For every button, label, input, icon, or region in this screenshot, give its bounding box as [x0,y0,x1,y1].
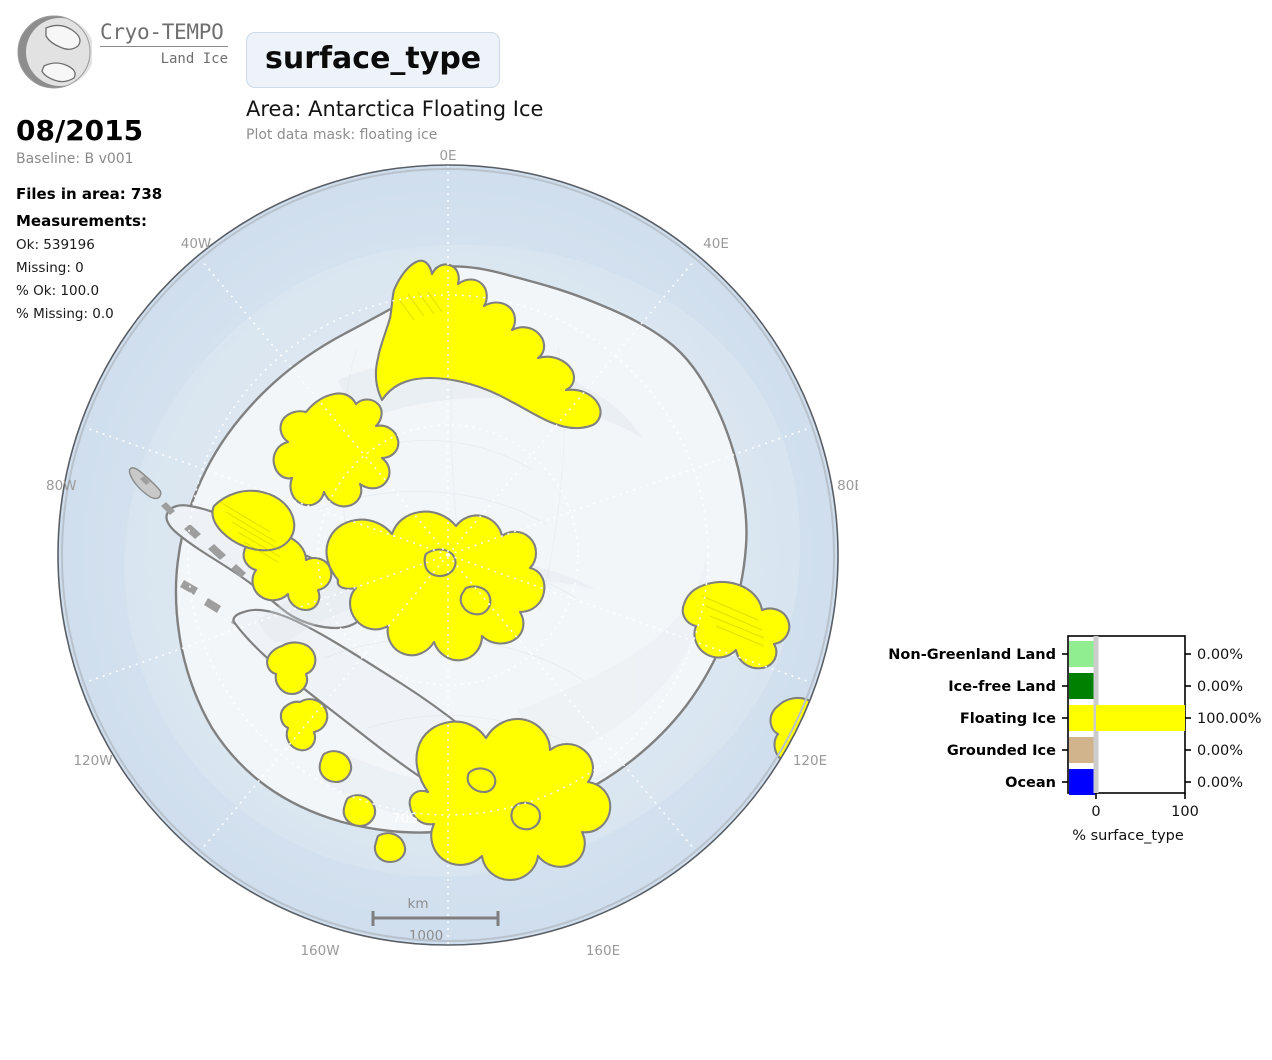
chart-category-labels: Non-Greenland Land Ice-free Land Floatin… [888,647,1056,791]
xtick-label-0: 0 [1091,804,1100,820]
plot-data-mask-label: Plot data mask: floating ice [246,126,437,144]
variable-title-badge: surface_type [246,32,500,88]
xtick-label-100: 100 [1171,804,1199,820]
lon-label-120w: 120W [73,753,112,769]
floating-ice-pine-island [320,751,351,782]
lon-label-40w: 40W [181,236,212,252]
category-label-4: Ocean [1005,775,1056,791]
date-label: 08/2015 [16,114,231,148]
category-label-1: Ice-free Land [948,679,1056,695]
value-label-2: 100.00% [1197,711,1262,727]
svg-text:km: km [408,896,429,912]
variable-title: surface_type [265,41,481,76]
category-label-0: Non-Greenland Land [888,647,1056,663]
globe-crescent-icon [16,14,92,90]
svg-text:70S: 70S [392,811,418,827]
area-label: Area: Antarctica Floating Ice [246,96,543,122]
floating-ice-totten [780,825,815,858]
logo-title: Cryo-TEMPO [100,20,230,44]
value-label-3: 0.00% [1197,743,1243,759]
swatch-ice-free-land [1069,673,1095,699]
chart-bars [1096,705,1185,731]
chart-left-ticks [1062,654,1068,782]
logo-wordmark: Cryo-TEMPO Land Ice [100,20,230,67]
surface-type-bar-chart: Non-Greenland Land Ice-free Land Floatin… [880,600,1272,860]
lon-label-40e: 40E [703,236,729,252]
swatch-non-greenland-land [1069,641,1095,667]
antarctica-map: 70S km 1000 0E 40E 80E 120E [38,150,858,970]
lon-label-80e: 80E [837,478,858,494]
lon-label-120e: 120E [793,753,827,769]
floating-ice-drygalski [630,953,660,970]
category-label-3: Grounded Ice [947,743,1056,759]
swatch-floating-ice [1069,705,1095,731]
floating-ice-west-denman [788,765,821,800]
lon-label-0e: 0E [439,150,456,164]
chart-value-labels: 0.00% 0.00% 100.00% 0.00% 0.00% [1197,647,1262,791]
swatch-ocean [1069,769,1095,795]
value-label-4: 0.00% [1197,775,1243,791]
latitude-label-70s: 70S [390,808,424,827]
category-label-2: Floating Ice [960,711,1056,727]
lon-label-160w: 160W [300,943,339,959]
floating-ice-small-b [534,959,564,970]
chart-color-swatches [1069,641,1095,795]
lon-label-80w: 80W [46,478,77,494]
chart-right-ticks [1185,654,1191,782]
value-label-0: 0.00% [1197,647,1243,663]
lon-label-160e: 160E [586,943,620,959]
chart-xlabel: % surface_type [1072,828,1184,844]
page-root: Cryo-TEMPO Land Ice 08/2015 Baseline: B … [0,0,1272,1060]
bar-floating-ice [1096,705,1185,731]
value-label-1: 0.00% [1197,679,1243,695]
chart-x-ticks [1096,793,1185,799]
floating-ice-getz [375,833,405,862]
cryo-tempo-logo: Cryo-TEMPO Land Ice [16,14,231,90]
floating-ice-nansen [582,965,612,970]
logo-subtitle: Land Ice [100,51,228,67]
floating-ice-cook-mertz [708,907,743,938]
swatch-grounded-ice [1069,737,1095,763]
logo-divider [100,46,228,47]
